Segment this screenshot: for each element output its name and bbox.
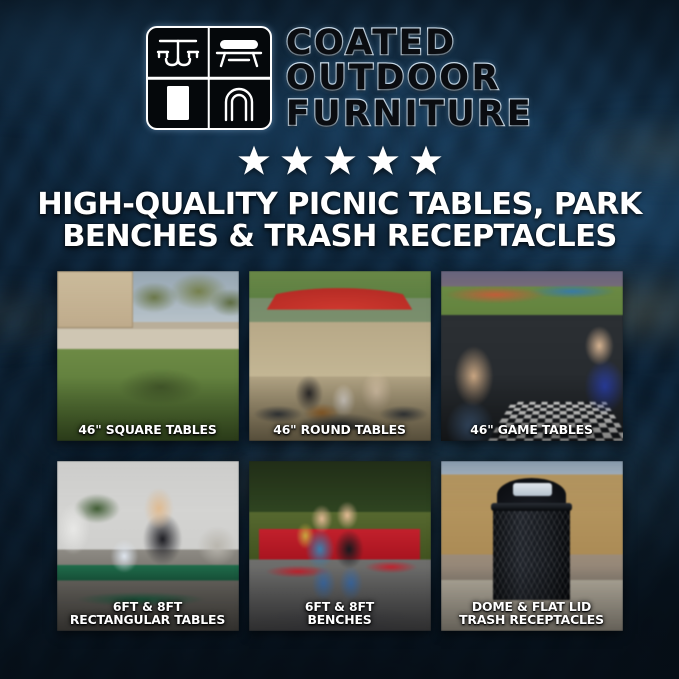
caption-line-1: 46" ROUND TABLES <box>252 424 428 437</box>
product-category-grid: 46" SQUARE TABLES 46" ROUND TABLES 46" G… <box>57 271 623 631</box>
product-tile-trash-receptacles[interactable]: DOME & FLAT LID TRASH RECEPTACLES <box>441 461 623 631</box>
product-photo <box>441 271 623 441</box>
star-icon <box>366 144 400 177</box>
bike-rack-arch-icon <box>209 78 270 128</box>
round-picnic-table-icon <box>148 28 209 78</box>
brand-logo[interactable]: COATED OUTDOOR FURNITURE <box>0 0 679 131</box>
page-title: HIGH-QUALITY PICNIC TABLES, PARK BENCHES… <box>0 189 679 254</box>
product-caption: 46" ROUND TABLES <box>249 424 431 437</box>
trash-receptacle-icon <box>148 78 209 128</box>
wordmark-line-furniture: FURNITURE <box>286 97 533 131</box>
product-caption: 46" GAME TABLES <box>441 424 623 437</box>
product-tile-game-tables[interactable]: 46" GAME TABLES <box>441 271 623 441</box>
star-icon <box>280 144 314 177</box>
product-photo <box>57 271 239 441</box>
caption-line-2: TRASH RECEPTACLES <box>444 614 620 627</box>
brand-wordmark: COATED OUTDOOR FURNITURE <box>286 26 533 131</box>
bench-table-icon <box>209 28 270 78</box>
coated-outdoor-furniture-logo-icon <box>146 26 272 130</box>
star-icon <box>409 144 443 177</box>
headline-line-1: HIGH-QUALITY PICNIC TABLES, PARK <box>26 189 653 221</box>
star-icon <box>237 144 271 177</box>
wordmark-line-coated: COATED <box>286 26 533 60</box>
star-icon <box>323 144 357 177</box>
caption-line-1: 46" SQUARE TABLES <box>60 424 236 437</box>
caption-line-2: RECTANGULAR TABLES <box>60 614 236 627</box>
product-tile-rectangular-tables[interactable]: 6FT & 8FT RECTANGULAR TABLES <box>57 461 239 631</box>
product-photo <box>249 271 431 441</box>
caption-line-2: BENCHES <box>252 614 428 627</box>
dome-lid-opening <box>513 483 551 497</box>
product-caption: DOME & FLAT LID TRASH RECEPTACLES <box>441 601 623 627</box>
caption-line-1: 46" GAME TABLES <box>444 424 620 437</box>
product-caption: 46" SQUARE TABLES <box>57 424 239 437</box>
star-rating <box>0 144 679 177</box>
product-caption: 6FT & 8FT RECTANGULAR TABLES <box>57 601 239 627</box>
product-tile-benches[interactable]: 6FT & 8FT BENCHES <box>249 461 431 631</box>
wordmark-line-outdoor: OUTDOOR <box>286 61 533 95</box>
headline-line-2: BENCHES & TRASH RECEPTACLES <box>26 221 653 253</box>
product-caption: 6FT & 8FT BENCHES <box>249 601 431 627</box>
product-tile-square-tables[interactable]: 46" SQUARE TABLES <box>57 271 239 441</box>
promo-banner: COATED OUTDOOR FURNITURE HIGH-QUALITY PI… <box>0 0 679 679</box>
receptacle-rim <box>491 503 573 511</box>
product-tile-round-tables[interactable]: 46" ROUND TABLES <box>249 271 431 441</box>
